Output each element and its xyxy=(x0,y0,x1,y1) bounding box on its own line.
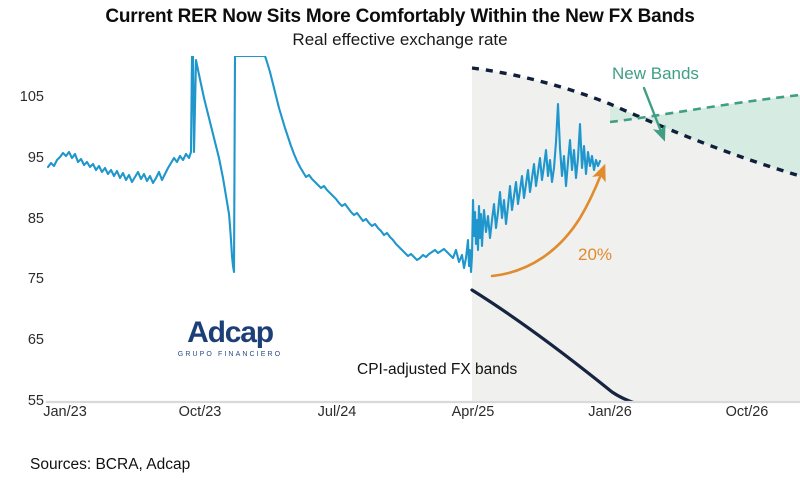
cpi-bands-label: CPI-adjusted FX bands xyxy=(357,361,517,379)
logo-tagline: GRUPO FINANCIERO xyxy=(168,351,292,358)
new-bands-label: New Bands xyxy=(612,64,699,84)
adcap-logo: Adcap GRUPO FINANCIERO xyxy=(168,318,292,358)
chart-container: Current RER Now Sits More Comfortably Wi… xyxy=(0,0,800,494)
logo-wordmark: Adcap xyxy=(168,318,292,348)
pct-change-label: 20% xyxy=(578,245,612,265)
sources-note: Sources: BCRA, Adcap xyxy=(30,456,190,474)
